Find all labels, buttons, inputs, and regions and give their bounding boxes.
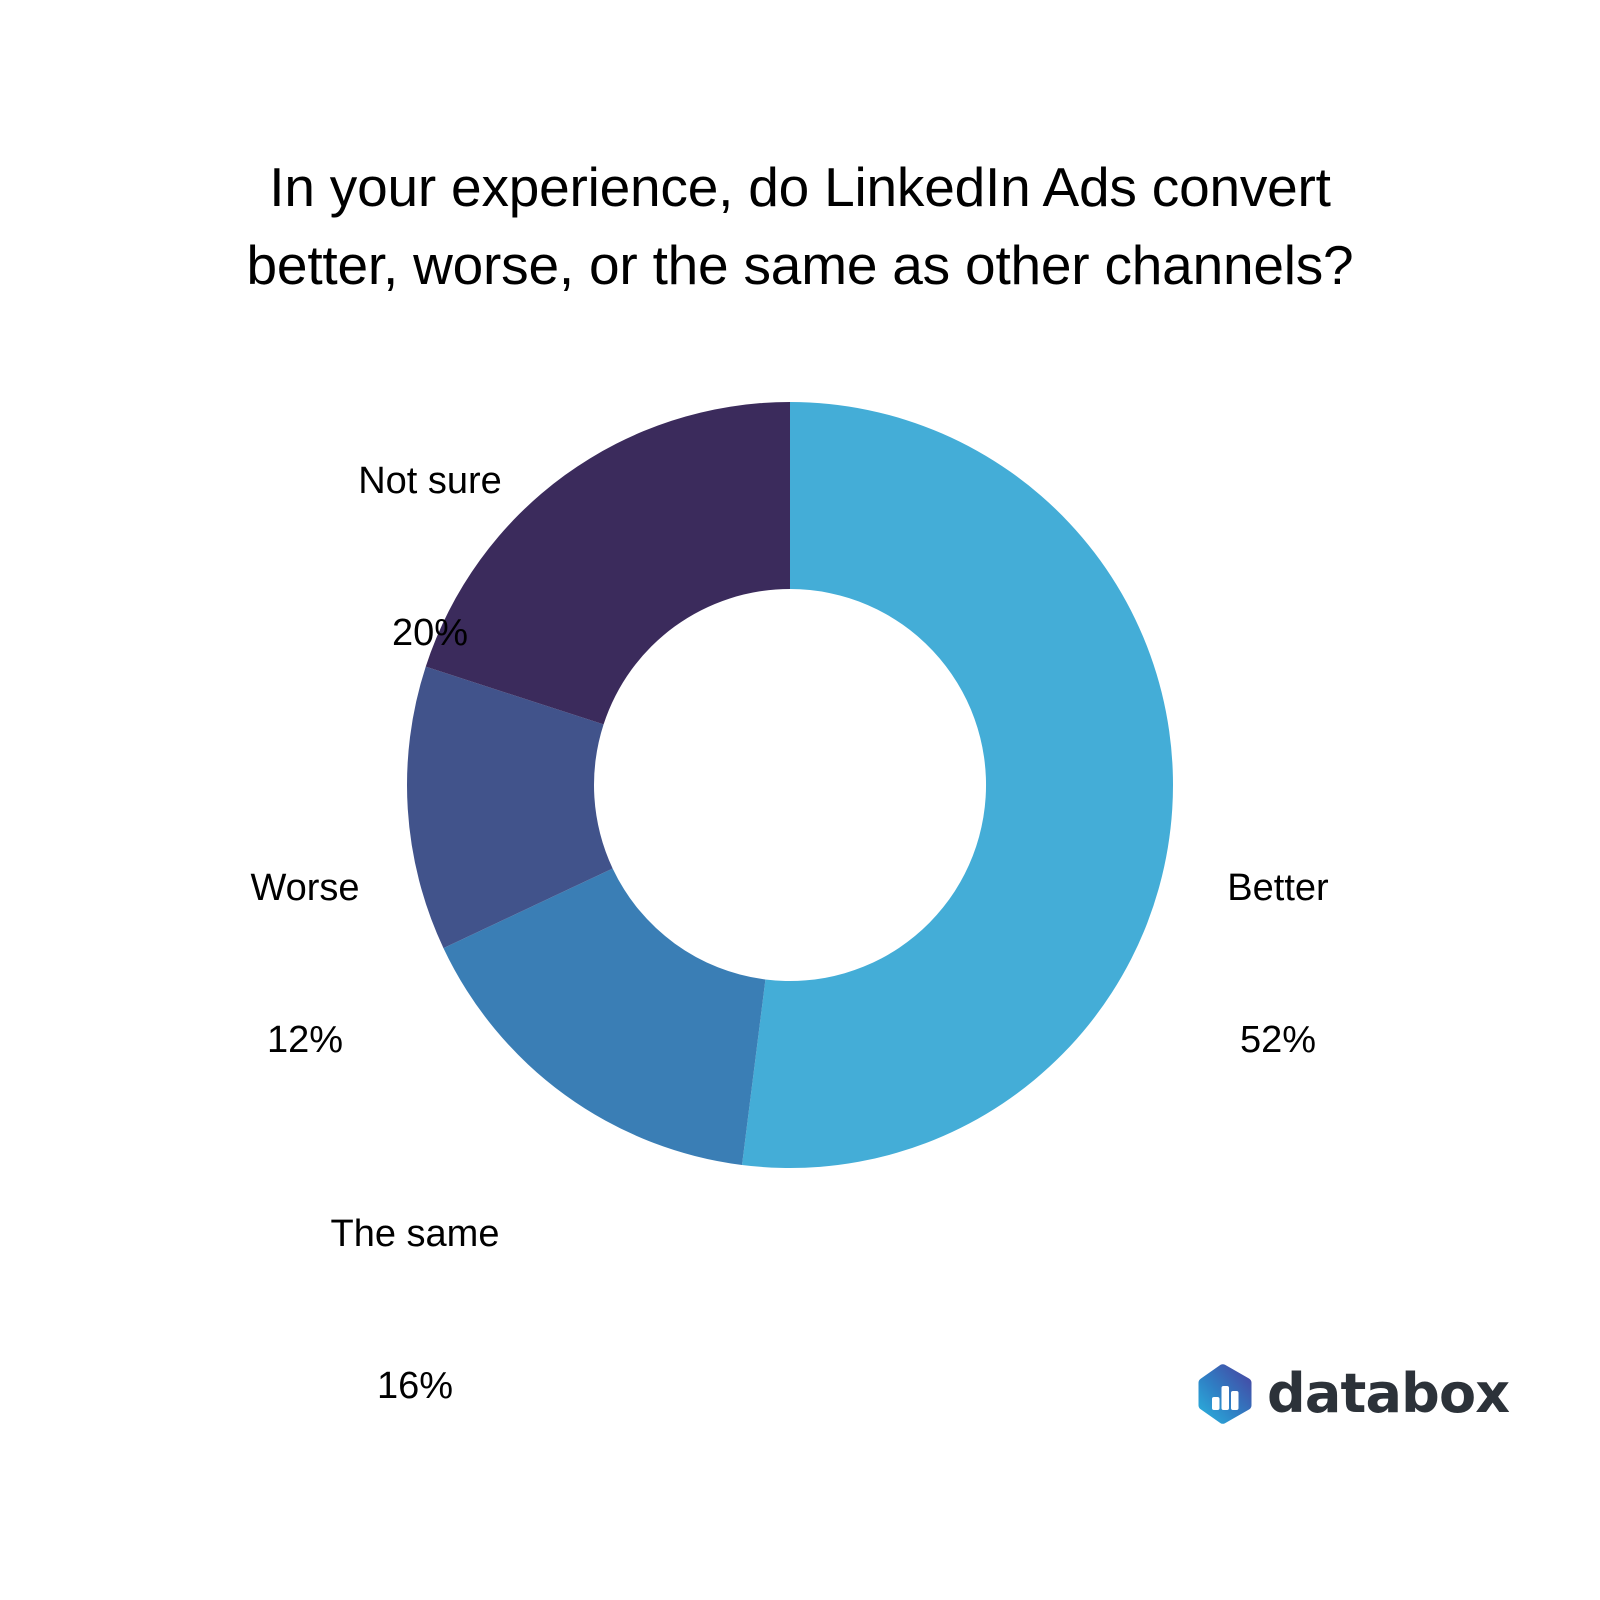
slice-label-better: Better 52%	[1148, 762, 1408, 1166]
chart-page: In your experience, do LinkedIn Ads conv…	[0, 0, 1600, 1600]
slice-label-the-same-name: The same	[250, 1209, 580, 1260]
slice-label-not-sure-value: 20%	[250, 608, 610, 659]
databox-hexagon-bars-icon	[1197, 1363, 1253, 1425]
donut-slice-better[interactable]	[742, 402, 1173, 1168]
slice-label-worse-name: Worse	[180, 863, 430, 914]
slice-label-better-value: 52%	[1148, 1015, 1408, 1066]
slice-label-the-same: The same 16%	[250, 1108, 580, 1512]
slice-label-not-sure-name: Not sure	[250, 456, 610, 507]
slice-label-worse: Worse 12%	[180, 762, 430, 1166]
databox-wordmark: databox	[1267, 1367, 1509, 1421]
slice-label-better-name: Better	[1148, 863, 1408, 914]
slice-label-the-same-value: 16%	[250, 1361, 580, 1412]
slice-label-not-sure: Not sure 20%	[250, 355, 610, 759]
databox-logo: databox	[1197, 1363, 1509, 1425]
slice-label-worse-value: 12%	[180, 1015, 430, 1066]
